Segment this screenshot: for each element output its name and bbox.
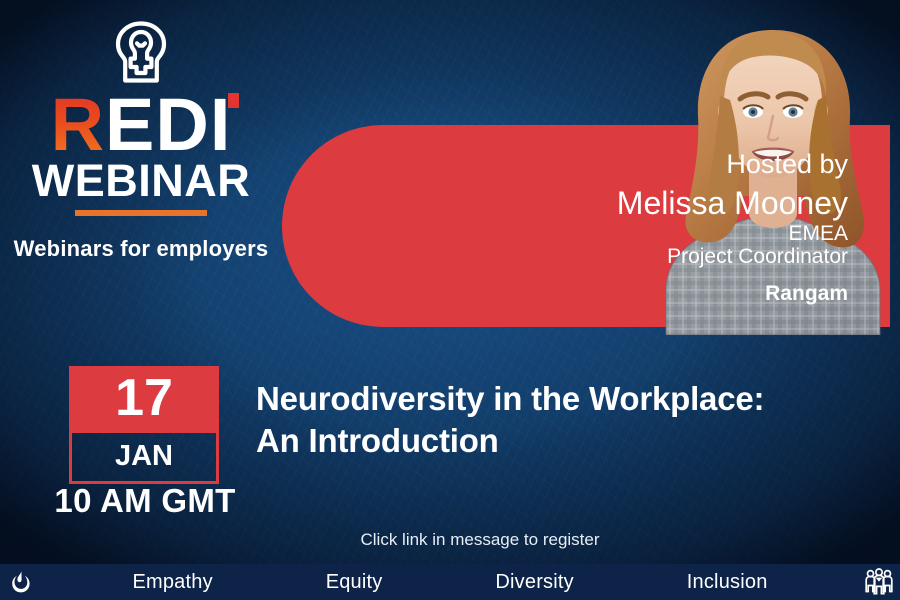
value-empathy: Empathy [132, 571, 212, 594]
webinar-title-line2: An Introduction [256, 420, 876, 462]
value-inclusion: Inclusion [687, 571, 768, 594]
event-date-badge: 17 JAN [69, 366, 219, 484]
host-role-title: Project Coordinator [667, 245, 848, 269]
i-dot-square [228, 93, 239, 108]
wordmark-letter-r: R [51, 83, 105, 166]
host-role-region: EMEA [788, 223, 848, 245]
redi-webinar-logo: REDI WEBINAR Webinars for employers [0, 18, 282, 262]
host-details: Hosted by Melissa Mooney EMEA Project Co… [282, 125, 848, 327]
webinar-underline [75, 210, 207, 216]
event-month: JAN [69, 433, 219, 484]
event-day: 17 [69, 366, 219, 433]
webinar-title-line1: Neurodiversity in the Workplace: [256, 378, 876, 420]
redi-wordmark: REDI [0, 90, 282, 160]
brand-tagline: Webinars for employers [0, 236, 282, 262]
wordmark-letters-edi: EDI [105, 83, 231, 166]
host-name: Melissa Mooney [617, 183, 848, 223]
webinar-promo-poster: REDI WEBINAR Webinars for employers [0, 0, 900, 600]
group-of-people-icon [858, 568, 900, 596]
webinar-title: Neurodiversity in the Workplace: An Intr… [256, 378, 876, 462]
register-instruction: Click link in message to register [200, 530, 760, 550]
hosted-by-label: Hosted by [726, 150, 848, 178]
event-time: 10 AM GMT [0, 482, 290, 520]
values-list: Empathy Equity Diversity Inclusion [42, 571, 858, 594]
host-organization: Rangam [765, 282, 848, 306]
two-heads-icon [104, 18, 178, 88]
rangam-flame-logo-icon [0, 569, 42, 595]
value-diversity: Diversity [495, 571, 573, 594]
value-equity: Equity [326, 571, 383, 594]
values-bar: Empathy Equity Diversity Inclusion [0, 564, 900, 600]
